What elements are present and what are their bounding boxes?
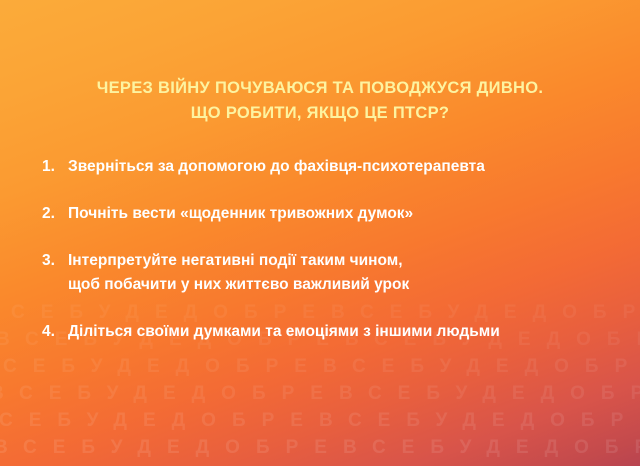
title-line-2: ЩО РОБИТИ, ЯКЩО ЦЕ ПТСР?: [0, 101, 640, 126]
list-item: 4. Діліться своїми думками та емоціями з…: [42, 320, 620, 344]
list-item-text: Діліться своїми думками та емоціями з ін…: [68, 320, 500, 344]
slide-title: ЧЕРЕЗ ВІЙНУ ПОЧУВАЮСЯ ТА ПОВОДЖУСЯ ДИВНО…: [0, 76, 640, 126]
list-item: 2. Почніть вести «щоденник тривожних дум…: [42, 202, 620, 226]
list-item: 3. Інтерпретуйте негативні події таким ч…: [42, 249, 620, 297]
list-item-text: Інтерпретуйте негативні події таким чино…: [68, 249, 409, 297]
recommendation-list: 1. Зверніться за допомогою до фахівця-пс…: [42, 155, 620, 344]
list-item-text: Зверніться за допомогою до фахівця-психо…: [68, 155, 485, 179]
watermark-row: ВСЕБУДЕДОБРЕВСЕБУДЕДОБРЕВСЕБУДЕДОБРЕВСЕБ…: [0, 411, 640, 430]
list-item: 1. Зверніться за допомогою до фахівця-пс…: [42, 155, 620, 179]
list-item-line-1: Зверніться за допомогою до фахівця-психо…: [68, 158, 485, 175]
list-item-line-2: щоб побачити у них життєво важливий урок: [68, 273, 409, 297]
list-item-line-1: Діліться своїми думками та емоціями з ін…: [68, 323, 500, 340]
watermark-row: ВСЕБУДЕДОБРЕВСЕБУДЕДОБРЕВСЕБУДЕДОБРЕВСЕБ…: [0, 438, 640, 457]
watermark-row: ВСЕБУДЕДОБРЕВСЕБУДЕДОБРЕВСЕБУДЕДОБРЕВСЕБ…: [0, 384, 640, 403]
list-item-text: Почніть вести «щоденник тривожних думок»: [68, 202, 413, 226]
list-item-number: 2.: [42, 202, 68, 226]
slide-canvas: ВСЕБУДЕДОБРЕВСЕБУДЕДОБРЕВСЕБУДЕДОБРЕВСЕБ…: [0, 0, 640, 466]
title-line-1: ЧЕРЕЗ ВІЙНУ ПОЧУВАЮСЯ ТА ПОВОДЖУСЯ ДИВНО…: [0, 76, 640, 101]
list-item-line-1: Почніть вести «щоденник тривожних думок»: [68, 205, 413, 222]
list-item-number: 4.: [42, 320, 68, 344]
list-item-line-1: Інтерпретуйте негативні події таким чино…: [68, 252, 403, 269]
list-item-number: 3.: [42, 249, 68, 273]
list-item-number: 1.: [42, 155, 68, 179]
watermark-row: ВСЕБУДЕДОБРЕВСЕБУДЕДОБРЕВСЕБУДЕДОБРЕВСЕБ…: [0, 357, 640, 376]
